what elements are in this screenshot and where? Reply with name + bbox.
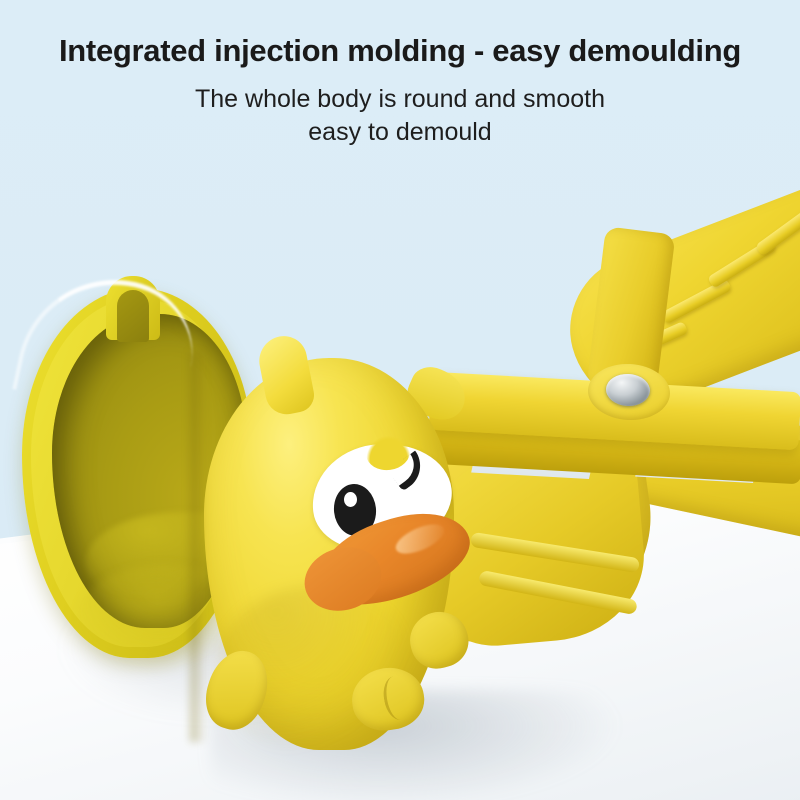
grip-rib-2	[661, 278, 732, 324]
page-title: Integrated injection molding - easy demo…	[0, 34, 800, 69]
mould-seam-shadow	[190, 352, 206, 742]
marketing-text-block: Integrated injection molding - easy demo…	[0, 0, 800, 150]
subtitle-line-1: The whole body is round and smooth	[0, 83, 800, 117]
product-image-canvas: Integrated injection molding - easy demo…	[0, 0, 800, 800]
subtitle-line-2: easy to demould	[0, 116, 800, 150]
duck-eye-highlight	[344, 492, 357, 507]
subtitle: The whole body is round and smooth easy …	[0, 83, 800, 150]
duck-shaped-mould-half	[196, 336, 486, 756]
